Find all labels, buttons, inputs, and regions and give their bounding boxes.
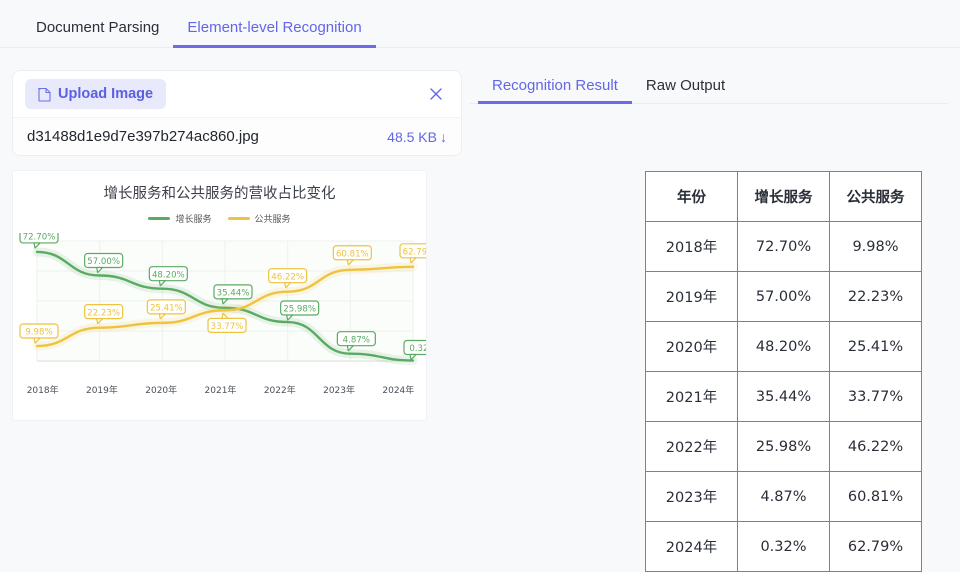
svg-text:9.98%: 9.98% — [25, 328, 52, 338]
table-cell-year: 2020年 — [646, 322, 738, 372]
x-tick-1: 2019年 — [72, 383, 131, 396]
svg-text:33.77%: 33.77% — [211, 322, 244, 332]
file-name: d31488d1e9d7e397b274ac860.jpg — [27, 128, 259, 145]
table-cell-growth: 57.00% — [738, 272, 830, 322]
svg-text:57.00%: 57.00% — [87, 257, 120, 267]
x-tick-0: 2018年 — [13, 383, 72, 396]
table-row: 2019年57.00%22.23% — [646, 272, 922, 322]
svg-text:60.81%: 60.81% — [336, 249, 369, 259]
table-cell-growth: 72.70% — [738, 222, 830, 272]
table-cell-year: 2018年 — [646, 222, 738, 272]
document-icon — [38, 87, 51, 102]
svg-text:35.44%: 35.44% — [217, 288, 250, 298]
file-size-download[interactable]: 48.5 KB ↓ — [387, 129, 447, 145]
file-row: d31488d1e9d7e397b274ac860.jpg 48.5 KB ↓ — [13, 117, 461, 155]
table-header-public: 公共服务 — [830, 172, 922, 222]
svg-text:48.20%: 48.20% — [152, 270, 185, 280]
table-header-row: 年份 增长服务 公共服务 — [646, 172, 922, 222]
main-tab-bar: Document Parsing Element-level Recogniti… — [0, 0, 960, 48]
svg-text:4.87%: 4.87% — [343, 335, 370, 345]
tab-recognition-result[interactable]: Recognition Result — [478, 77, 632, 104]
svg-text:0.32%: 0.32% — [409, 344, 427, 354]
legend-swatch-growth — [148, 217, 170, 220]
file-size-label: 48.5 KB — [387, 129, 437, 145]
table-cell-public: 46.22% — [830, 422, 922, 472]
table-cell-year: 2021年 — [646, 372, 738, 422]
table-cell-public: 25.41% — [830, 322, 922, 372]
table-row: 2023年4.87%60.81% — [646, 472, 922, 522]
upload-row: Upload Image — [13, 71, 461, 117]
svg-text:62.79%: 62.79% — [403, 247, 427, 257]
left-panel: Upload Image d31488d1e9d7e397b274ac860.j… — [12, 70, 462, 545]
table-row: 2022年25.98%46.22% — [646, 422, 922, 472]
chart-legend: 增长服务 公共服务 — [13, 212, 426, 225]
recognition-result-area: 年份 增长服务 公共服务 2018年72.70%9.98%2019年57.00%… — [470, 104, 948, 534]
tab-raw-output[interactable]: Raw Output — [632, 77, 739, 104]
table-cell-growth: 4.87% — [738, 472, 830, 522]
chart-plot-area: 72.70%57.00%48.20%35.44%25.98%4.87%0.32%… — [13, 233, 427, 378]
table-cell-public: 9.98% — [830, 222, 922, 272]
chart-preview-image: 增长服务和公共服务的营收占比变化 增长服务 公共服务 72.70%57.00%4… — [12, 170, 427, 421]
x-tick-6: 2024年 — [369, 383, 427, 396]
table-cell-public: 60.81% — [830, 472, 922, 522]
tab-document-parsing[interactable]: Document Parsing — [22, 19, 173, 48]
table-header-growth: 增长服务 — [738, 172, 830, 222]
table-cell-year: 2019年 — [646, 272, 738, 322]
table-cell-growth: 48.20% — [738, 322, 830, 372]
x-tick-2: 2020年 — [132, 383, 191, 396]
svg-text:25.41%: 25.41% — [150, 303, 183, 313]
upload-card: Upload Image d31488d1e9d7e397b274ac860.j… — [12, 70, 462, 156]
table-cell-year: 2022年 — [646, 422, 738, 472]
close-icon[interactable] — [423, 81, 449, 107]
table-cell-year: 2024年 — [646, 522, 738, 572]
upload-image-label: Upload Image — [58, 86, 153, 102]
legend-item-growth: 增长服务 — [148, 212, 211, 225]
svg-text:22.23%: 22.23% — [87, 308, 120, 318]
table-cell-public: 22.23% — [830, 272, 922, 322]
legend-label-public: 公共服务 — [255, 212, 291, 225]
table-row: 2021年35.44%33.77% — [646, 372, 922, 422]
result-tab-bar: Recognition Result Raw Output — [470, 70, 948, 104]
legend-swatch-public — [228, 217, 250, 220]
chart-title: 增长服务和公共服务的营收占比变化 — [13, 182, 426, 203]
table-cell-year: 2023年 — [646, 472, 738, 522]
upload-image-button[interactable]: Upload Image — [25, 79, 166, 109]
legend-label-growth: 增长服务 — [175, 212, 211, 225]
table-row: 2024年0.32%62.79% — [646, 522, 922, 572]
table-cell-growth: 35.44% — [738, 372, 830, 422]
svg-text:46.22%: 46.22% — [271, 272, 304, 282]
chart-svg: 72.70%57.00%48.20%35.44%25.98%4.87%0.32%… — [13, 233, 427, 383]
tab-element-level-recognition[interactable]: Element-level Recognition — [173, 19, 375, 48]
table-cell-public: 33.77% — [830, 372, 922, 422]
right-panel: Recognition Result Raw Output 年份 增长服务 公共… — [470, 70, 948, 550]
svg-text:25.98%: 25.98% — [283, 305, 316, 315]
table-header-year: 年份 — [646, 172, 738, 222]
download-icon: ↓ — [440, 129, 447, 145]
svg-text:72.70%: 72.70% — [23, 233, 56, 243]
table-row: 2020年48.20%25.41% — [646, 322, 922, 372]
recognition-result-table: 年份 增长服务 公共服务 2018年72.70%9.98%2019年57.00%… — [645, 171, 922, 572]
table-cell-growth: 25.98% — [738, 422, 830, 472]
table-cell-public: 62.79% — [830, 522, 922, 572]
x-tick-3: 2021年 — [191, 383, 250, 396]
table-row: 2018年72.70%9.98% — [646, 222, 922, 272]
chart-x-axis: 2018年 2019年 2020年 2021年 2022年 2023年 2024… — [13, 383, 427, 396]
x-tick-4: 2022年 — [250, 383, 309, 396]
legend-item-public: 公共服务 — [228, 212, 291, 225]
table-cell-growth: 0.32% — [738, 522, 830, 572]
x-tick-5: 2023年 — [309, 383, 368, 396]
table-body: 2018年72.70%9.98%2019年57.00%22.23%2020年48… — [646, 222, 922, 572]
